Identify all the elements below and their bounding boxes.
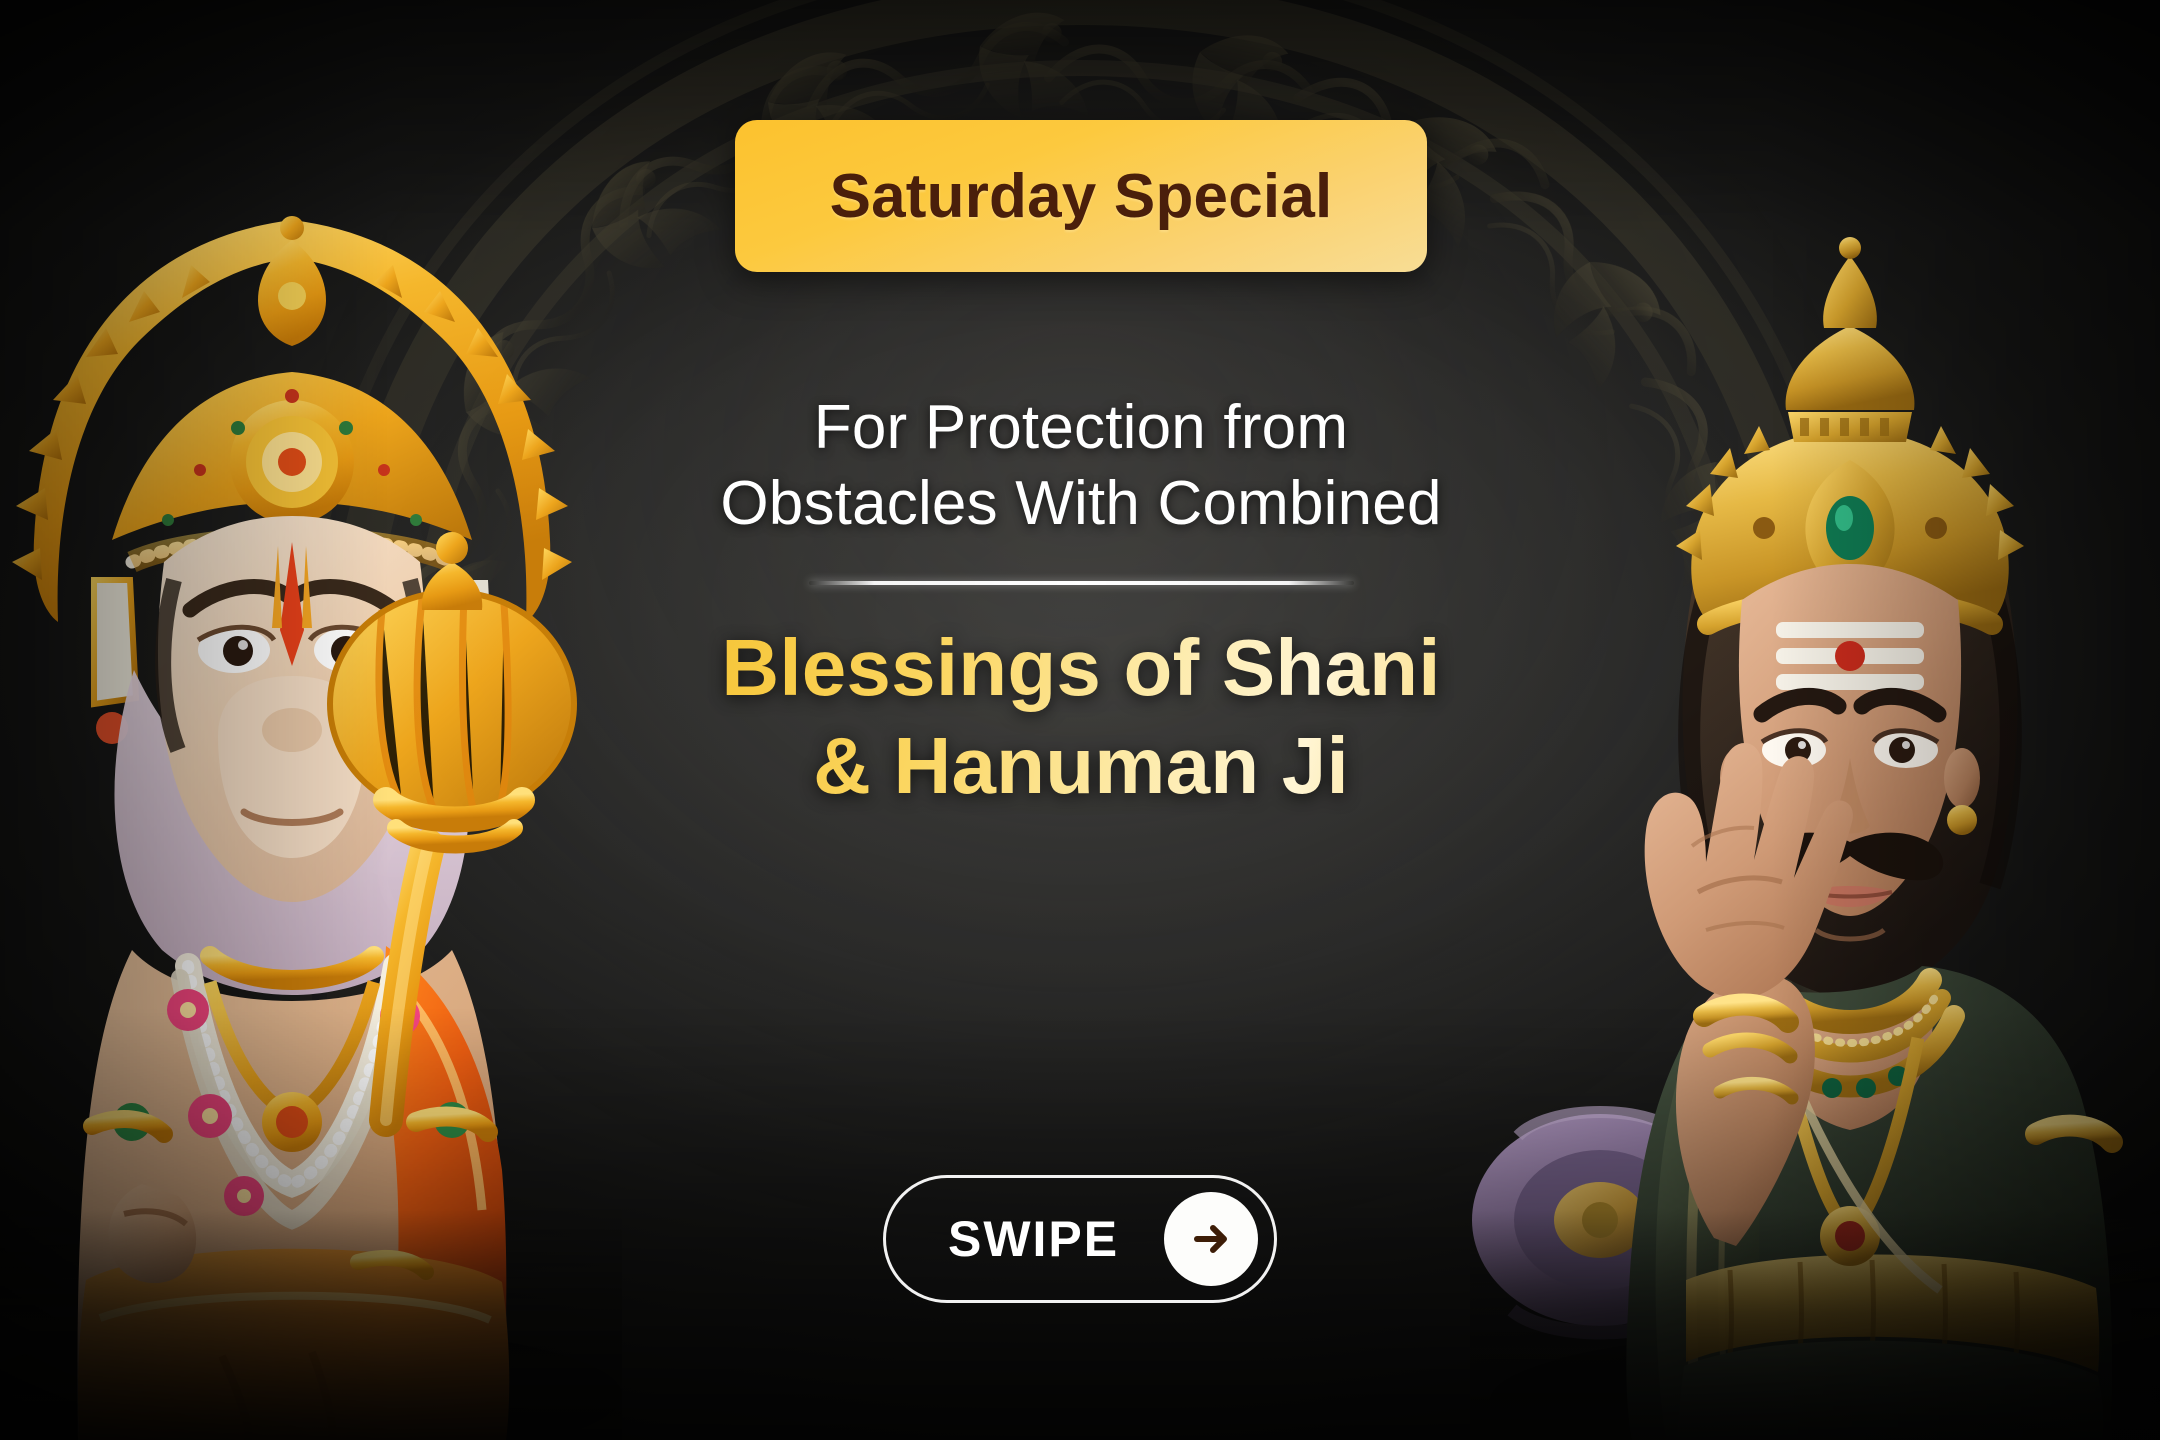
arrow-right-icon xyxy=(1164,1192,1258,1286)
badge-label: Saturday Special xyxy=(830,161,1333,232)
subheadline-line-2: & Hanuman Ji xyxy=(721,717,1440,815)
headline: For Protection from Obstacles With Combi… xyxy=(720,390,1441,541)
headline-line-1: For Protection from xyxy=(720,390,1441,466)
subheadline-line-1: Blessings of Shani xyxy=(721,619,1440,717)
hanuman-ji-illustration xyxy=(0,110,622,1440)
horizontal-rule xyxy=(809,581,1354,585)
headline-line-2: Obstacles With Combined xyxy=(720,466,1441,542)
swipe-button-label: SWIPE xyxy=(948,1210,1119,1268)
shani-dev-illustration xyxy=(1470,130,2160,1440)
promo-card: Saturday Special For Protection from Obs… xyxy=(0,0,2160,1440)
subheadline: Blessings of Shani & Hanuman Ji xyxy=(721,619,1440,814)
saturday-special-badge: Saturday Special xyxy=(735,120,1427,272)
swipe-button[interactable]: SWIPE xyxy=(883,1175,1277,1303)
